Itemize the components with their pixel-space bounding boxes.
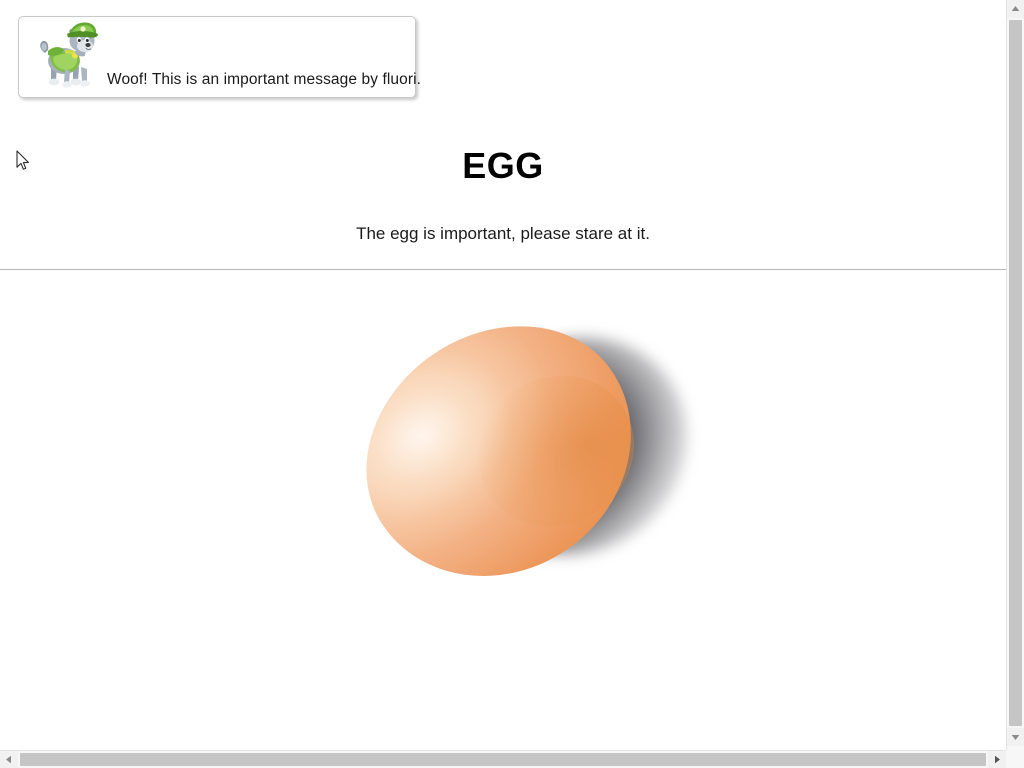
horizontal-divider xyxy=(0,269,1006,270)
scrollbar-corner xyxy=(1006,750,1024,768)
vertical-scrollbar[interactable] xyxy=(1006,0,1024,768)
page-viewport: Woof! This is an important message by fl… xyxy=(0,0,1006,746)
vertical-scrollbar-thumb[interactable] xyxy=(1009,20,1022,726)
egg-image xyxy=(340,300,700,600)
egg-shape xyxy=(319,277,680,628)
scroll-up-button[interactable] xyxy=(1007,0,1024,18)
message-box: Woof! This is an important message by fl… xyxy=(18,16,416,98)
scroll-right-button[interactable] xyxy=(988,751,1006,768)
horizontal-scrollbar-thumb[interactable] xyxy=(20,753,986,766)
scroll-down-button[interactable] xyxy=(1007,728,1024,746)
page-title: EGG xyxy=(0,145,1006,187)
horizontal-scrollbar[interactable] xyxy=(0,750,1024,768)
scroll-left-button[interactable] xyxy=(0,751,18,768)
page-subtitle: The egg is important, please stare at it… xyxy=(0,224,1006,244)
paw-patrol-rocky-dog-icon xyxy=(37,19,99,89)
message-text: Woof! This is an important message by fl… xyxy=(107,17,421,99)
